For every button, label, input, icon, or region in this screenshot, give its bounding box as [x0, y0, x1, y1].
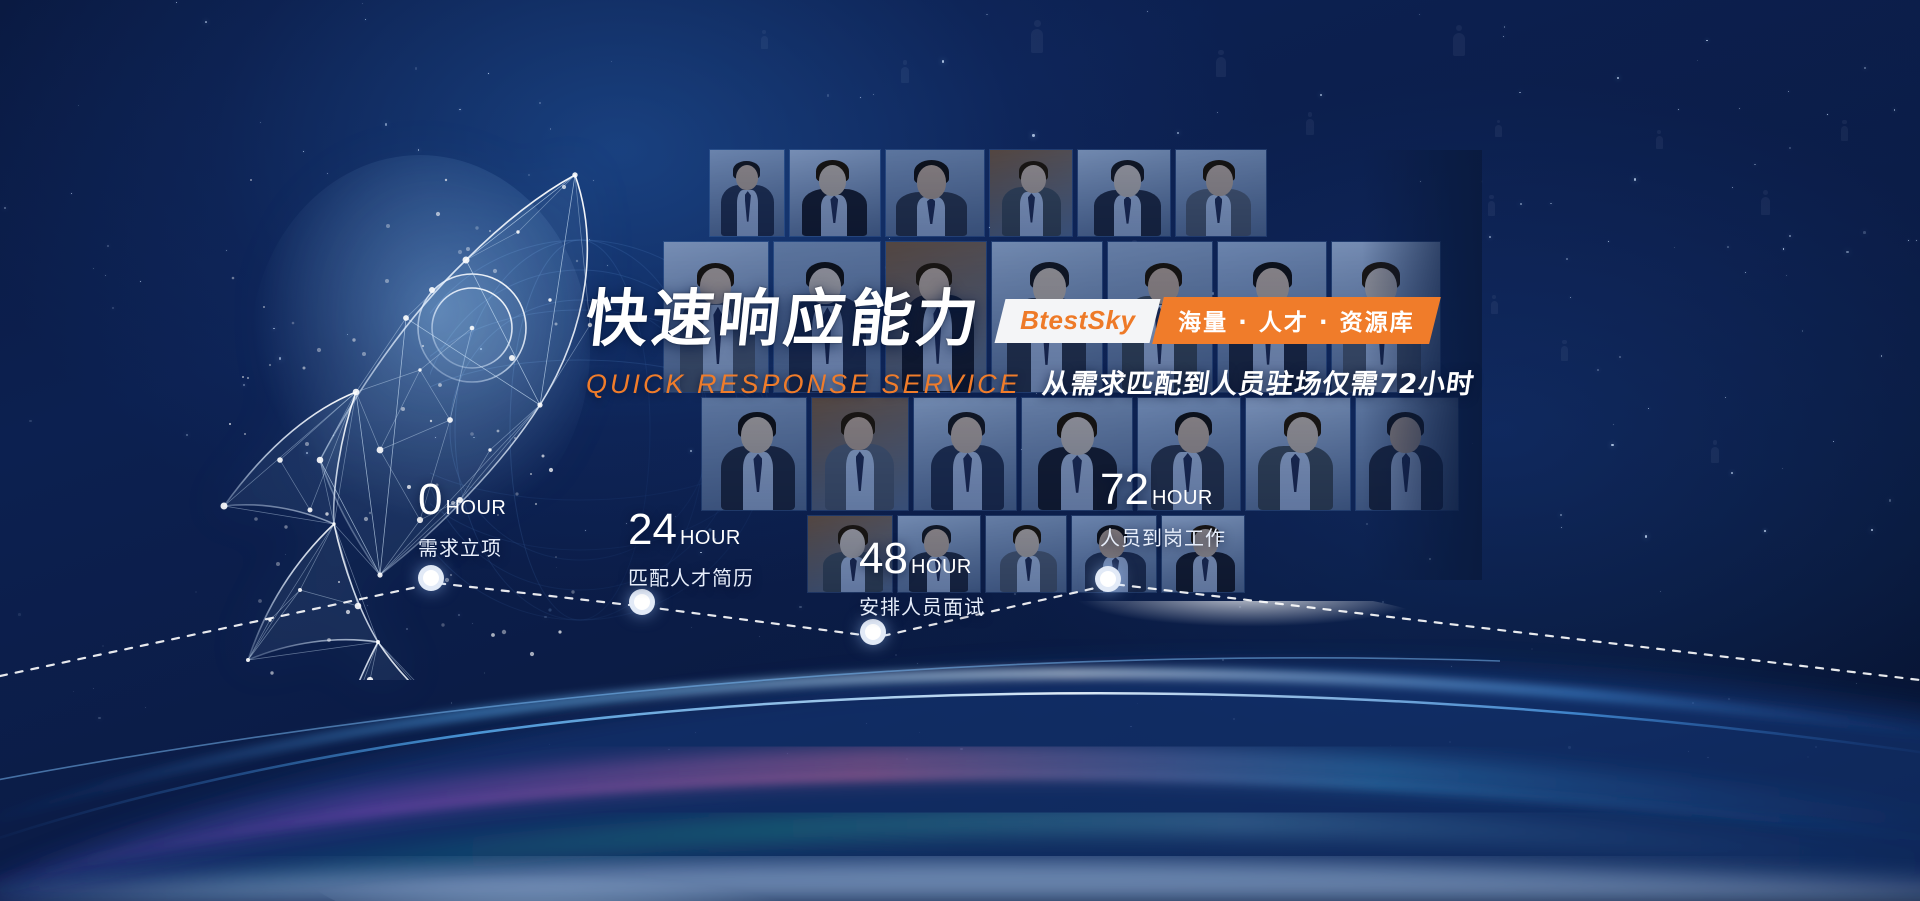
- brand-badge-label: BtestSky: [1021, 305, 1136, 336]
- headline-english: QUICK RESPONSE SERVICE: [586, 369, 1021, 400]
- talent-photo-cell: [886, 150, 984, 236]
- person-silhouette-icon: [1487, 195, 1496, 216]
- photo-grid-row: [702, 398, 1458, 510]
- person-silhouette-icon: [1710, 440, 1720, 463]
- talent-photo-cell: [914, 398, 1016, 510]
- photo-person: [986, 516, 1066, 592]
- feature-badge: 海量 · 人才 · 资源库: [1152, 297, 1440, 344]
- photo-person: [990, 150, 1072, 236]
- photo-person: [914, 398, 1016, 510]
- talent-photo-cell: [812, 398, 908, 510]
- banner-stage: 快速响应能力 BtestSky海量 · 人才 · 资源库 QUICK RESPO…: [0, 0, 1920, 901]
- photo-person: [1022, 398, 1132, 510]
- photo-person: [1176, 150, 1266, 236]
- talent-photo-cell: [702, 398, 806, 510]
- talent-photo-cell: [1138, 398, 1240, 510]
- timeline-step-desc: 安排人员面试: [859, 591, 985, 620]
- talent-photo-cell: [790, 150, 880, 236]
- tagline: 从需求匹配到人员驻场仅需72小时: [1040, 362, 1477, 401]
- badge-group: BtestSky海量 · 人才 · 资源库: [1000, 297, 1434, 344]
- talent-photo-cell: [990, 150, 1072, 236]
- feature-badge-label: 海量 · 人才 · 资源库: [1178, 303, 1415, 337]
- photo-person: [812, 398, 908, 510]
- page-title: 快速响应能力: [583, 288, 986, 350]
- photo-person: [1162, 516, 1244, 592]
- person-silhouette-icon: [1760, 190, 1771, 215]
- photo-person: [702, 398, 806, 510]
- photo-person: [808, 516, 892, 592]
- headline-block: 快速响应能力 BtestSky海量 · 人才 · 资源库 QUICK RESPO…: [586, 288, 1786, 401]
- person-silhouette-icon: [760, 30, 768, 49]
- brand-badge: BtestSky: [995, 299, 1161, 343]
- photo-person: [1138, 398, 1240, 510]
- person-silhouette-icon: [1840, 120, 1849, 141]
- talent-photo-cell: [1176, 150, 1266, 236]
- person-silhouette-icon: [1655, 130, 1663, 149]
- photo-person: [898, 516, 980, 592]
- photo-person: [886, 150, 984, 236]
- talent-photo-cell: [1162, 516, 1244, 592]
- photo-grid-row: [808, 516, 1244, 592]
- talent-photo-cell: [1356, 398, 1458, 510]
- person-silhouette-icon: [1305, 112, 1315, 135]
- talent-photo-cell: [1078, 150, 1170, 236]
- photo-person: [1078, 150, 1170, 236]
- photo-person: [1246, 398, 1350, 510]
- person-silhouette-icon: [1495, 120, 1502, 137]
- person-silhouette-icon: [1030, 20, 1044, 53]
- photo-person: [790, 150, 880, 236]
- talent-photo-cell: [1246, 398, 1350, 510]
- subtitle-row: QUICK RESPONSE SERVICE 从需求匹配到人员驻场仅需72小时: [586, 362, 1786, 401]
- person-silhouette-icon: [1215, 50, 1227, 77]
- photo-grid-row: [710, 150, 1266, 236]
- person-silhouette-icon: [900, 60, 910, 83]
- person-silhouette-icon: [1452, 25, 1466, 56]
- talent-photo-cell: [710, 150, 784, 236]
- talent-photo-cell: [1022, 398, 1132, 510]
- talent-photo-cell: [986, 516, 1066, 592]
- talent-photo-cell: [898, 516, 980, 592]
- photo-person: [1356, 398, 1458, 510]
- photo-person: [710, 150, 784, 236]
- talent-photo-cell: [808, 516, 892, 592]
